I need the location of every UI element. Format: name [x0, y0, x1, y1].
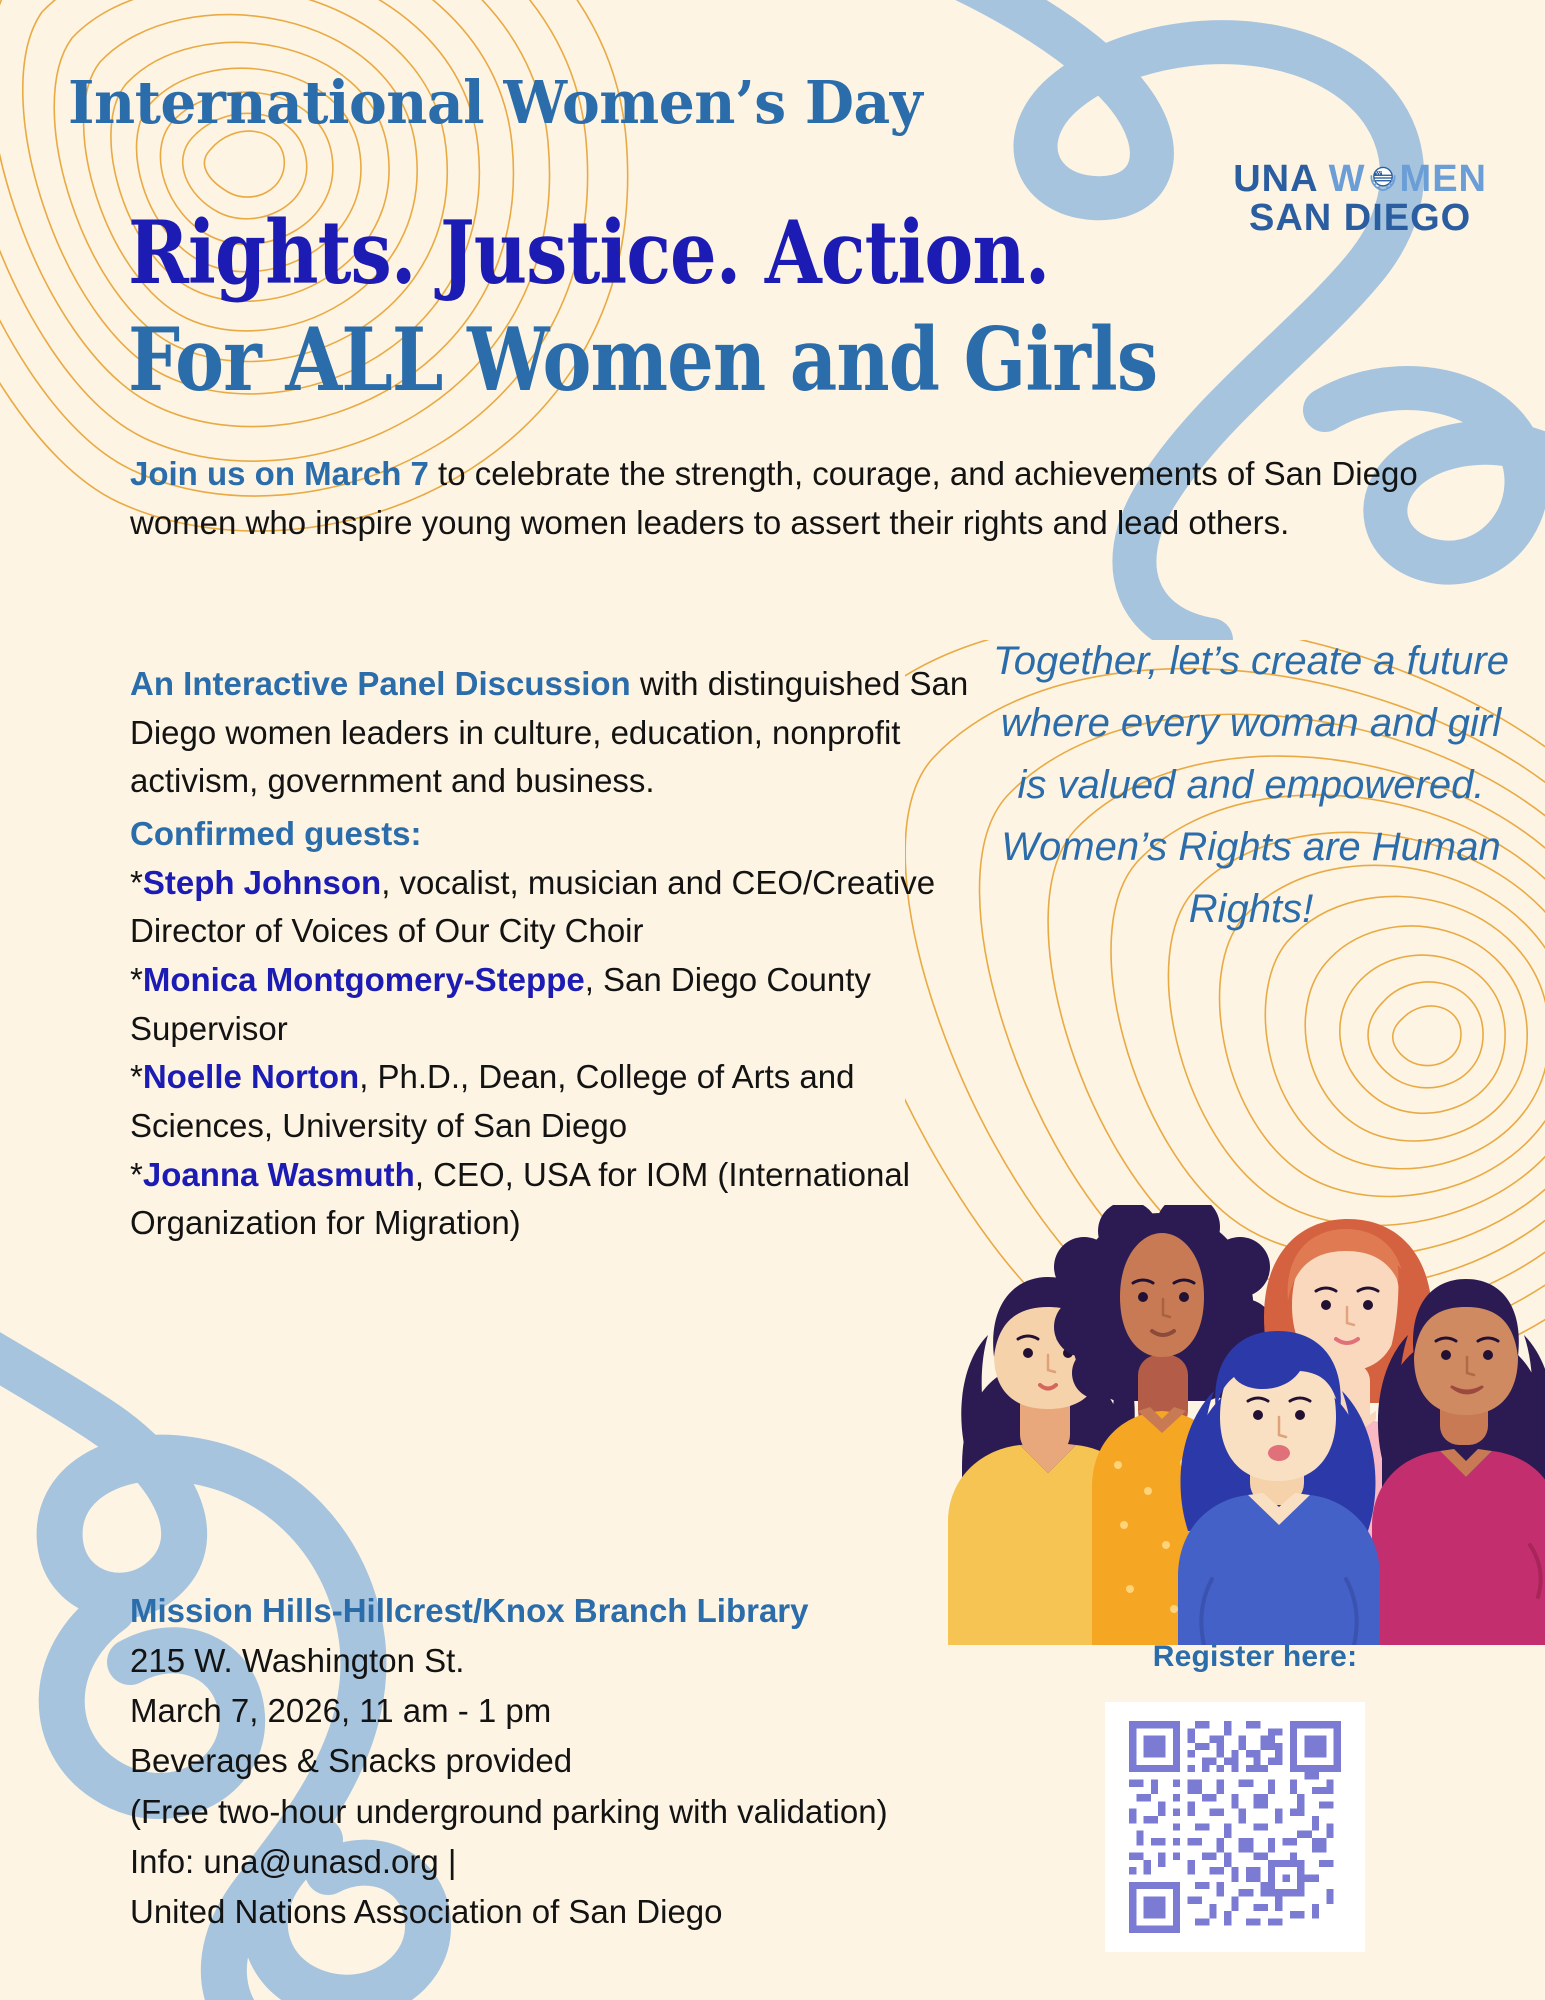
guest-marker: *	[130, 1156, 143, 1193]
guest-marker: *	[130, 864, 143, 901]
qr-code-container[interactable]	[1105, 1702, 1365, 1952]
panel-and-guests-column: An Interactive Panel Discussion with dis…	[130, 660, 980, 1248]
list-item: *Joanna Wasmuth, CEO, USA for IOM (Inter…	[130, 1151, 980, 1248]
register-here-label: Register here:	[1105, 1640, 1405, 1674]
confirmed-guests-heading: Confirmed guests:	[130, 810, 980, 859]
venue-details-block: Mission Hills-Hillcrest/Knox Branch Libr…	[130, 1586, 1080, 1937]
guest-name: Noelle Norton	[143, 1058, 359, 1095]
group-of-women-illustration	[948, 1205, 1545, 1645]
page-title-line-2: Rights. Justice. Action.	[128, 203, 1049, 305]
guest-name: Steph Johnson	[143, 864, 381, 901]
intro-paragraph: Join us on March 7 to celebrate the stre…	[130, 450, 1420, 548]
guest-name: Monica Montgomery-Steppe	[143, 961, 585, 998]
venue-refreshments: Beverages & Snacks provided	[130, 1736, 1080, 1786]
logo-men-text: MEN	[1400, 158, 1487, 200]
panel-lead-text: An Interactive Panel Discussion	[130, 665, 631, 702]
un-emblem-icon	[1366, 161, 1400, 195]
list-item: *Steph Johnson, vocalist, musician and C…	[130, 859, 980, 956]
register-section: Register here:	[1105, 1640, 1405, 1952]
venue-address: 215 W. Washington St.	[130, 1636, 1080, 1686]
panel-description: An Interactive Panel Discussion with dis…	[130, 660, 980, 806]
list-item: *Noelle Norton, Ph.D., Dean, College of …	[130, 1053, 980, 1150]
page-title-line-3: For ALL Women and Girls	[128, 310, 1157, 412]
venue-parking: (Free two-hour underground parking with …	[130, 1787, 1080, 1837]
logo-line-2: SAN DIEGO	[1233, 199, 1487, 238]
qr-code-icon[interactable]	[1129, 1721, 1341, 1933]
guest-name: Joanna Wasmuth	[143, 1156, 415, 1193]
venue-organization: United Nations Association of San Diego	[130, 1887, 1080, 1937]
poster-canvas: International Women’s Day Rights. Justic…	[0, 0, 1545, 2000]
logo-w-text: W	[1329, 158, 1366, 200]
logo-line-1: UNA WMEN	[1233, 160, 1487, 199]
venue-datetime: March 7, 2026, 11 am - 1 pm	[130, 1686, 1080, 1736]
pull-quote: Together, let’s create a future where ev…	[991, 630, 1511, 940]
venue-name: Mission Hills-Hillcrest/Knox Branch Libr…	[130, 1586, 1080, 1636]
venue-info-email[interactable]: Info: una@unasd.org |	[130, 1837, 1080, 1887]
guest-marker: *	[130, 1058, 143, 1095]
page-title-line-1: International Women’s Day	[68, 68, 922, 137]
guest-marker: *	[130, 961, 143, 998]
list-item: *Monica Montgomery-Steppe, San Diego Cou…	[130, 956, 980, 1053]
logo-una-text: UNA	[1233, 158, 1328, 200]
intro-lead-text: Join us on March 7	[130, 455, 429, 492]
una-women-san-diego-logo: UNA WMEN SAN DIEGO	[1233, 160, 1487, 238]
